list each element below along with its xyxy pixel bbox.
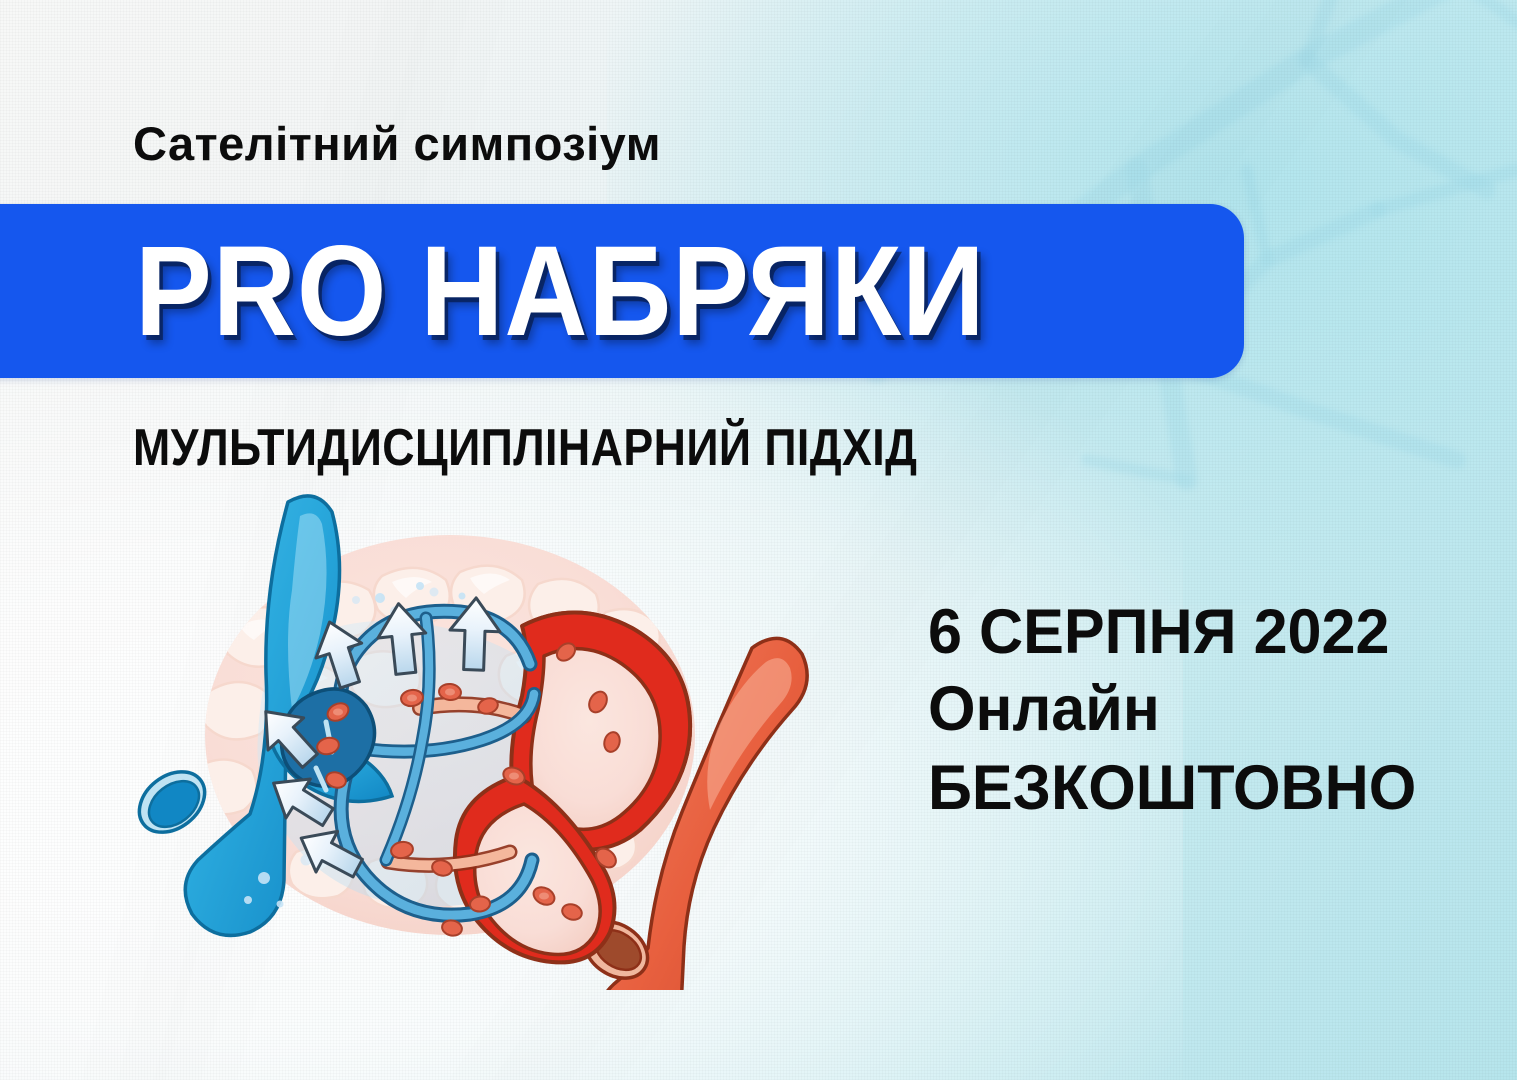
event-details: 6 СЕРПНЯ 2022 Онлайн БЕЗКОШТОВНО	[928, 600, 1448, 820]
page-title: PRO НАБРЯКИ	[135, 219, 986, 364]
kicker-text: Сателітний симпозіум	[133, 116, 661, 171]
poster-canvas: Сателітний симпозіум PRO НАБРЯКИ МУЛЬТИД…	[0, 0, 1517, 1080]
event-format: Онлайн	[928, 677, 1432, 741]
event-date: 6 СЕРПНЯ 2022	[928, 600, 1432, 664]
title-band: PRO НАБРЯКИ	[0, 204, 1244, 378]
capillary-edema-illustration	[120, 480, 820, 990]
subtitle-text: МУЛЬТИДИСЦИПЛІНАРНИЙ ПІДХІД	[133, 418, 917, 478]
event-price: БЕЗКОШТОВНО	[928, 756, 1432, 820]
